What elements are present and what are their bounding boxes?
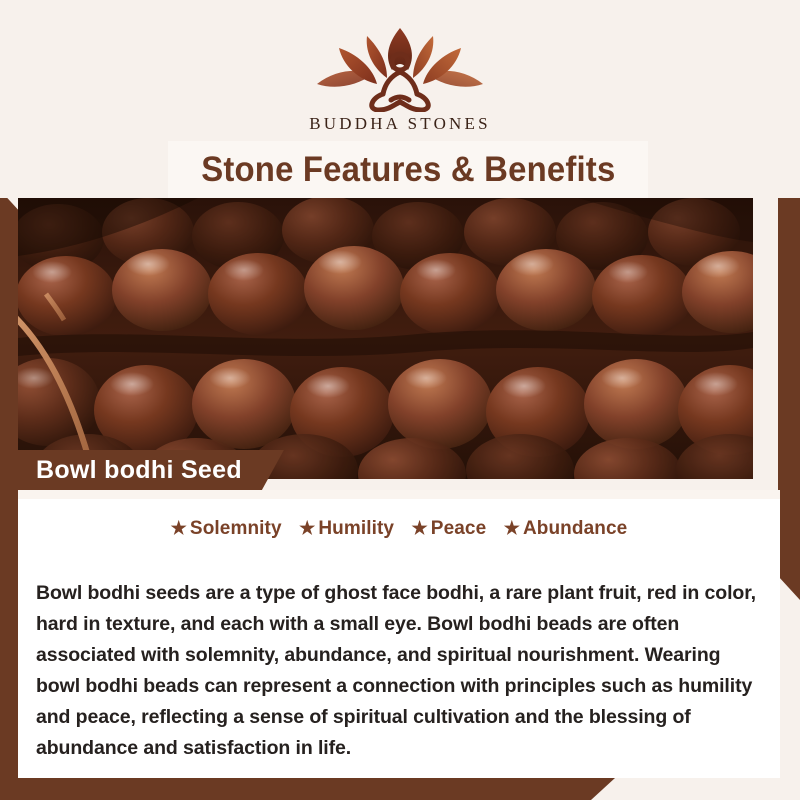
keyword-item: ★Peace bbox=[412, 518, 487, 540]
lotus-meditation-icon bbox=[305, 22, 495, 112]
keyword-list: ★Solemnity ★Humility ★Peace ★Abundance bbox=[18, 518, 780, 540]
frame-band-bottom bbox=[0, 778, 615, 800]
keyword-label: Humility bbox=[318, 518, 394, 539]
description-text: Bowl bodhi seeds are a type of ghost fac… bbox=[36, 578, 764, 764]
keyword-label: Abundance bbox=[523, 518, 627, 539]
star-icon: ★ bbox=[171, 518, 187, 538]
title-banner: Stone Features & Benefits bbox=[168, 141, 648, 198]
keyword-label: Peace bbox=[431, 518, 486, 539]
product-name-banner: Bowl bodhi Seed bbox=[18, 450, 284, 490]
keyword-item: ★Solemnity bbox=[171, 518, 282, 540]
poster-root: BUDDHA STONES Stone Features & Benefits bbox=[0, 0, 800, 800]
brand-logo: BUDDHA STONES bbox=[0, 22, 800, 134]
page-title: Stone Features & Benefits bbox=[201, 150, 615, 190]
content-card: ★Solemnity ★Humility ★Peace ★Abundance B… bbox=[18, 490, 780, 778]
brand-name: BUDDHA STONES bbox=[0, 114, 800, 134]
keyword-item: ★Humility bbox=[299, 518, 394, 540]
card-top-tint bbox=[18, 490, 780, 499]
star-icon: ★ bbox=[412, 518, 428, 538]
hero-photo bbox=[18, 198, 753, 479]
product-name: Bowl bodhi Seed bbox=[36, 456, 242, 485]
keyword-item: ★Abundance bbox=[504, 518, 628, 540]
keyword-label: Solemnity bbox=[190, 518, 282, 539]
star-icon: ★ bbox=[299, 518, 315, 538]
bodhi-bead-strands-photo bbox=[18, 198, 753, 479]
star-icon: ★ bbox=[504, 518, 520, 538]
